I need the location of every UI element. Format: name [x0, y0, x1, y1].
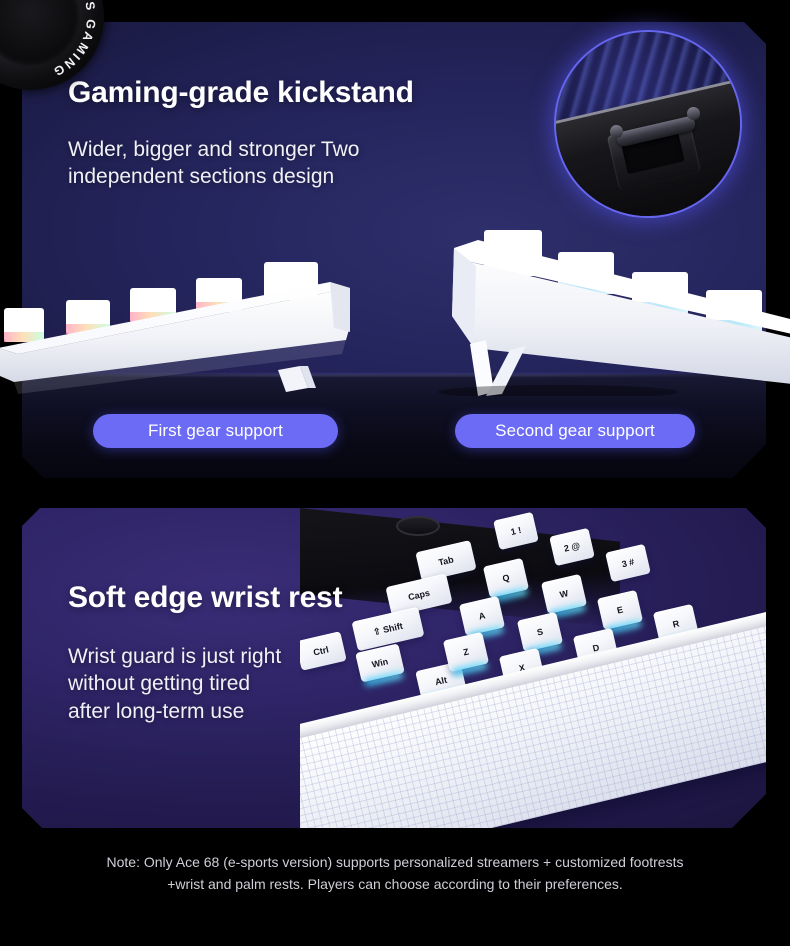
kickstand-subtext-line-2: independent sections design — [68, 165, 334, 188]
pill-second-gear-support[interactable]: Second gear support — [455, 414, 695, 448]
stand-hinge-knob — [396, 516, 440, 536]
keycap-s: S — [517, 612, 563, 652]
kickstand-subtext: Wider, bigger and stronger Two independe… — [68, 136, 359, 191]
keycap-z: Z — [443, 632, 489, 672]
wrist-rest-heading: Soft edge wrist rest — [68, 581, 342, 615]
wrist-rest-subtext-line-1: Wrist guard is just right — [68, 645, 281, 668]
keyboard-second-gear — [418, 196, 790, 396]
wrist-rest-subtext-line-2: without getting tired — [68, 672, 250, 695]
pill-first-gear-support[interactable]: First gear support — [93, 414, 338, 448]
product-feature-page: YOUNG'S GAMING — [0, 0, 790, 946]
keycap-ctrl: Ctrl — [300, 631, 347, 671]
wrist-rest-subtext: Wrist guard is just right without gettin… — [68, 643, 281, 725]
brand-badge-gloss — [0, 0, 43, 5]
wrist-rest-keyboard-photo: TabCaps⇧ ShiftCtrlWinAlt1 !2 @3 #QWERASD… — [300, 508, 766, 828]
keyboard-first-gear — [0, 236, 378, 396]
footer-note-line-1: Note: Only Ace 68 (e-sports version) sup… — [34, 852, 756, 874]
wrist-rest-subtext-line-3: after long-term use — [68, 700, 244, 723]
kickstand-subtext-line-1: Wider, bigger and stronger Two — [68, 138, 359, 161]
kickstand-closeup-inset — [556, 32, 740, 216]
footer-note-line-2: +wrist and palm rests. Players can choos… — [34, 874, 756, 896]
footer-note: Note: Only Ace 68 (e-sports version) sup… — [0, 852, 790, 895]
kickstand-heading: Gaming-grade kickstand — [68, 76, 414, 110]
